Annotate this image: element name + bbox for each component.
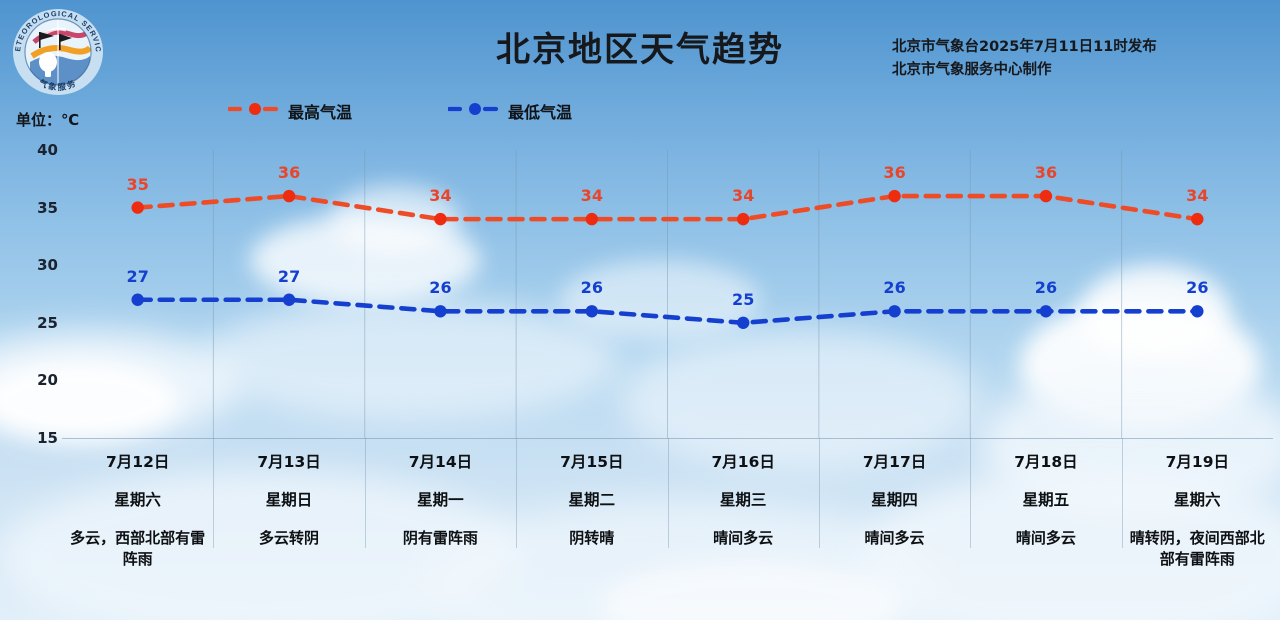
- forecast-date: 7月17日: [823, 450, 966, 472]
- data-point-high-0: [131, 201, 143, 213]
- forecast-day-column[interactable]: 7月16日星期三晴间多云: [668, 438, 819, 578]
- unit-label: 单位：℃: [16, 109, 79, 130]
- forecast-date: 7月18日: [974, 450, 1117, 472]
- data-point-high-6: [1040, 190, 1052, 202]
- forecast-date: 7月16日: [672, 450, 815, 472]
- forecast-day-column[interactable]: 7月13日星期日多云转阴: [213, 438, 364, 578]
- data-point-low-7: [1191, 305, 1203, 317]
- legend-low-label: 最低气温: [508, 99, 572, 123]
- forecast-day-column[interactable]: 7月15日星期二阴转晴: [516, 438, 667, 578]
- value-label-low-6: 26: [1035, 278, 1057, 297]
- data-point-high-3: [586, 213, 598, 225]
- publisher-line-1: 北京市气象台2025年7月11日11时发布: [892, 36, 1222, 59]
- data-point-low-1: [283, 294, 295, 306]
- forecast-weekday: 星期五: [974, 488, 1117, 510]
- forecast-weekday: 星期一: [369, 488, 512, 510]
- data-point-low-4: [737, 317, 749, 329]
- forecast-day-column[interactable]: 7月17日星期四晴间多云: [819, 438, 970, 578]
- forecast-description: 多云，西部北部有雷阵雨: [66, 528, 209, 570]
- data-point-high-2: [434, 213, 446, 225]
- forecast-weekday: 星期四: [823, 488, 966, 510]
- weather-trend-infographic: METEOROLOGICAL SERVICE 气象服务 北京地区天气趋势 北京市…: [0, 0, 1280, 620]
- data-point-low-5: [888, 305, 900, 317]
- day-column-separator: [819, 438, 820, 548]
- value-label-low-0: 27: [127, 267, 149, 286]
- value-label-low-5: 26: [883, 278, 905, 297]
- y-axis-tick-25: 25: [37, 314, 58, 332]
- y-axis-labels: 403530252015: [20, 140, 58, 448]
- forecast-weekday: 星期日: [217, 488, 360, 510]
- value-label-high-6: 36: [1035, 163, 1057, 182]
- forecast-weekday: 星期三: [672, 488, 815, 510]
- value-label-high-1: 36: [278, 163, 300, 182]
- data-point-high-7: [1191, 213, 1203, 225]
- value-label-low-1: 27: [278, 267, 300, 286]
- y-axis-tick-15: 15: [37, 429, 58, 447]
- day-column-separator: [516, 438, 517, 548]
- forecast-description: 阴转晴: [520, 528, 663, 549]
- forecast-description: 晴间多云: [974, 528, 1117, 549]
- forecast-day-column[interactable]: 7月14日星期一阴有雷阵雨: [365, 438, 516, 578]
- data-point-low-2: [434, 305, 446, 317]
- value-label-high-2: 34: [429, 186, 451, 205]
- forecast-description: 多云转阴: [217, 528, 360, 549]
- day-column-separator: [365, 438, 366, 548]
- y-axis-tick-30: 30: [37, 256, 58, 274]
- publisher-line-2: 北京市气象服务中心制作: [892, 59, 1222, 82]
- y-axis-tick-20: 20: [37, 371, 58, 389]
- legend-item-high: 最高气温: [228, 99, 352, 123]
- data-point-low-3: [586, 305, 598, 317]
- forecast-date: 7月12日: [66, 450, 209, 472]
- value-label-high-5: 36: [883, 163, 905, 182]
- data-point-low-6: [1040, 305, 1052, 317]
- legend-low-marker-icon: [448, 101, 502, 122]
- legend-high-label: 最高气温: [288, 99, 352, 123]
- forecast-date: 7月14日: [369, 450, 512, 472]
- y-axis-tick-35: 35: [37, 199, 58, 217]
- forecast-description: 晴转阴，夜间西部北部有雷阵雨: [1126, 528, 1269, 570]
- day-column-separator: [668, 438, 669, 548]
- data-point-low-0: [131, 294, 143, 306]
- data-point-high-4: [737, 213, 749, 225]
- publisher-info: 北京市气象台2025年7月11日11时发布 北京市气象服务中心制作: [892, 36, 1222, 82]
- value-label-high-3: 34: [581, 186, 603, 205]
- chart-legend: 最高气温 最低气温: [228, 99, 572, 123]
- data-point-high-5: [888, 190, 900, 202]
- value-label-high-7: 34: [1186, 186, 1208, 205]
- forecast-day-column[interactable]: 7月18日星期五晴间多云: [970, 438, 1121, 578]
- legend-item-low: 最低气温: [448, 99, 572, 123]
- forecast-description: 晴间多云: [672, 528, 815, 549]
- value-label-high-0: 35: [127, 175, 149, 194]
- value-label-high-4: 34: [732, 186, 754, 205]
- day-column-separator: [1122, 438, 1123, 548]
- forecast-date: 7月15日: [520, 450, 663, 472]
- y-axis-tick-40: 40: [37, 141, 58, 159]
- forecast-weekday: 星期六: [1126, 488, 1269, 510]
- value-label-low-4: 25: [732, 290, 754, 309]
- temperature-lines: [62, 150, 1272, 438]
- forecast-day-column[interactable]: 7月19日星期六晴转阴，夜间西部北部有雷阵雨: [1122, 438, 1273, 578]
- day-column-separator: [213, 438, 214, 548]
- data-point-high-1: [283, 190, 295, 202]
- day-column-separator: [970, 438, 971, 548]
- forecast-date: 7月19日: [1126, 450, 1269, 472]
- value-label-low-7: 26: [1186, 278, 1208, 297]
- forecast-description: 阴有雷阵雨: [369, 528, 512, 549]
- forecast-weekday: 星期六: [66, 488, 209, 510]
- forecast-day-column[interactable]: 7月12日星期六多云，西部北部有雷阵雨: [62, 438, 213, 578]
- forecast-date: 7月13日: [217, 450, 360, 472]
- forecast-description: 晴间多云: [823, 528, 966, 549]
- legend-high-marker-icon: [228, 101, 282, 122]
- value-label-low-3: 26: [581, 278, 603, 297]
- temperature-chart-plot: 35363434343636342727262625262626: [62, 150, 1272, 438]
- forecast-weekday: 星期二: [520, 488, 663, 510]
- value-label-low-2: 26: [429, 278, 451, 297]
